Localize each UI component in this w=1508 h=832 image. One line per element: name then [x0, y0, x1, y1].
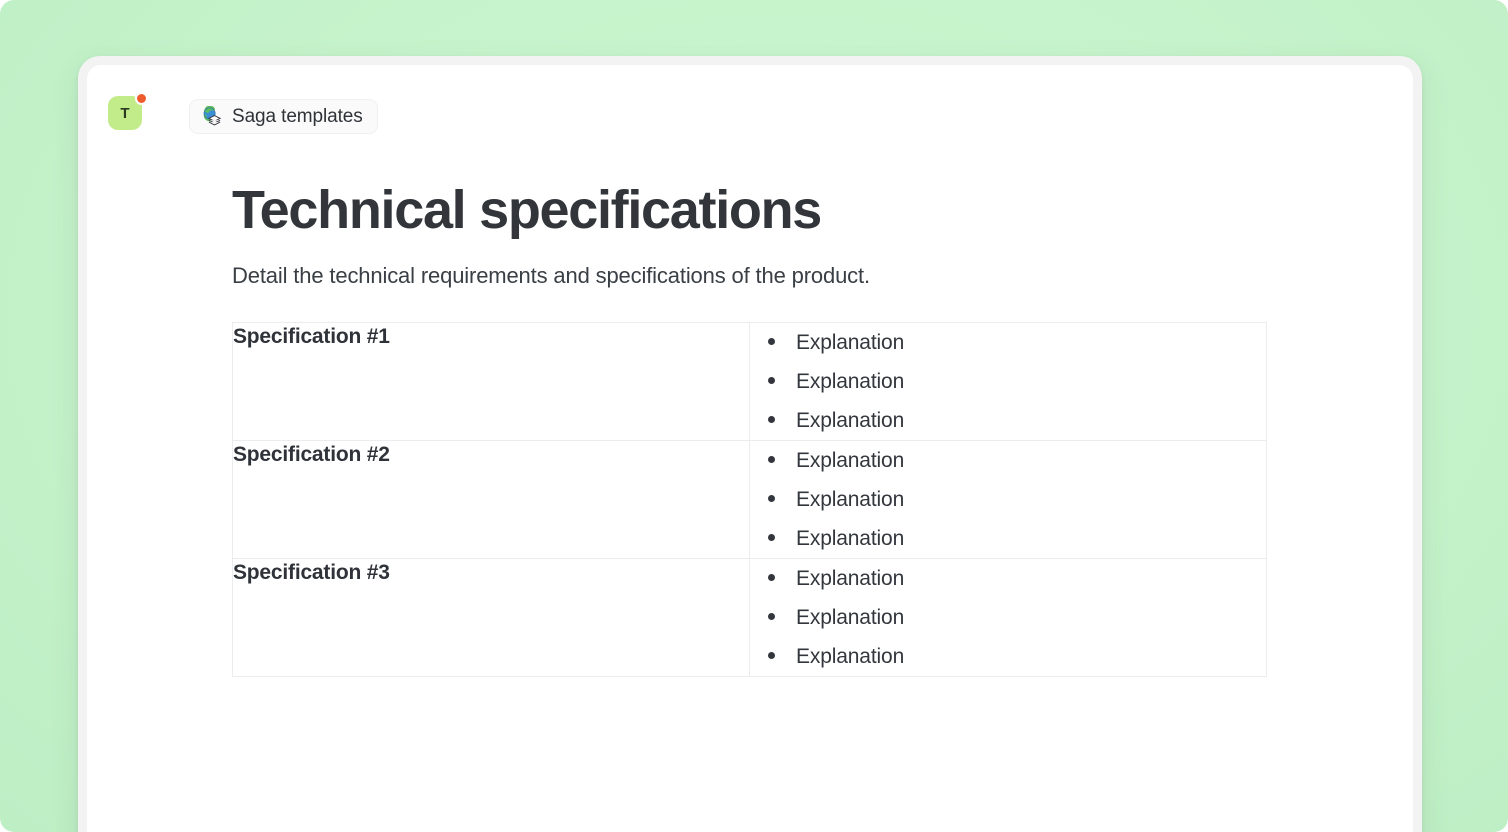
list-item[interactable]: Explanation: [768, 401, 1266, 440]
explanations-cell[interactable]: ExplanationExplanationExplanation: [750, 559, 1267, 677]
explanation-label: Explanation: [796, 568, 904, 589]
window-surface: T: [87, 65, 1413, 832]
page-title: Technical specifications: [232, 181, 1353, 239]
explanations-cell[interactable]: ExplanationExplanationExplanation: [750, 441, 1267, 559]
explanation-label: Explanation: [796, 528, 904, 549]
window-frame: T: [78, 56, 1422, 832]
specification-label: Specification #2: [233, 441, 749, 468]
explanation-list: ExplanationExplanationExplanation: [750, 559, 1266, 676]
specification-label: Specification #1: [233, 323, 749, 350]
list-item[interactable]: Explanation: [768, 637, 1266, 676]
specification-cell[interactable]: Specification #1: [233, 323, 750, 441]
bullet-icon: [768, 613, 775, 620]
list-item[interactable]: Explanation: [768, 559, 1266, 598]
breadcrumb-label: Saga templates: [232, 106, 363, 128]
page-backdrop: T: [0, 0, 1508, 832]
list-item[interactable]: Explanation: [768, 519, 1266, 558]
breadcrumb[interactable]: Saga templates: [190, 100, 377, 133]
bullet-icon: [768, 416, 775, 423]
document-body: Technical specifications Detail the tech…: [87, 147, 1413, 677]
table-row: Specification #1ExplanationExplanationEx…: [233, 323, 1267, 441]
explanation-label: Explanation: [796, 410, 904, 431]
bullet-icon: [768, 534, 775, 541]
bullet-icon: [768, 338, 775, 345]
list-item[interactable]: Explanation: [768, 323, 1266, 362]
list-item[interactable]: Explanation: [768, 598, 1266, 637]
bullet-icon: [768, 495, 775, 502]
bullet-icon: [768, 574, 775, 581]
list-item[interactable]: Explanation: [768, 480, 1266, 519]
explanation-label: Explanation: [796, 332, 904, 353]
explanation-label: Explanation: [796, 450, 904, 471]
bullet-icon: [768, 456, 775, 463]
specifications-table-body: Specification #1ExplanationExplanationEx…: [233, 323, 1267, 677]
explanation-label: Explanation: [796, 371, 904, 392]
specification-cell[interactable]: Specification #3: [233, 559, 750, 677]
list-item[interactable]: Explanation: [768, 362, 1266, 401]
explanation-list: ExplanationExplanationExplanation: [750, 441, 1266, 558]
bullet-icon: [768, 377, 775, 384]
page-subtitle: Detail the technical requirements and sp…: [232, 263, 1353, 289]
specifications-table: Specification #1ExplanationExplanationEx…: [232, 322, 1267, 677]
top-bar: T: [87, 65, 1413, 147]
specification-cell[interactable]: Specification #2: [233, 441, 750, 559]
explanation-label: Explanation: [796, 489, 904, 510]
explanation-label: Explanation: [796, 646, 904, 667]
explanations-cell[interactable]: ExplanationExplanationExplanation: [750, 323, 1267, 441]
bullet-icon: [768, 652, 775, 659]
table-row: Specification #2ExplanationExplanationEx…: [233, 441, 1267, 559]
list-item[interactable]: Explanation: [768, 441, 1266, 480]
explanation-label: Explanation: [796, 607, 904, 628]
explanation-list: ExplanationExplanationExplanation: [750, 323, 1266, 440]
notification-dot-icon: [135, 92, 148, 105]
avatar[interactable]: T: [108, 96, 144, 132]
table-row: Specification #3ExplanationExplanationEx…: [233, 559, 1267, 677]
specification-label: Specification #3: [233, 559, 749, 586]
globe-stack-icon: [201, 106, 223, 128]
